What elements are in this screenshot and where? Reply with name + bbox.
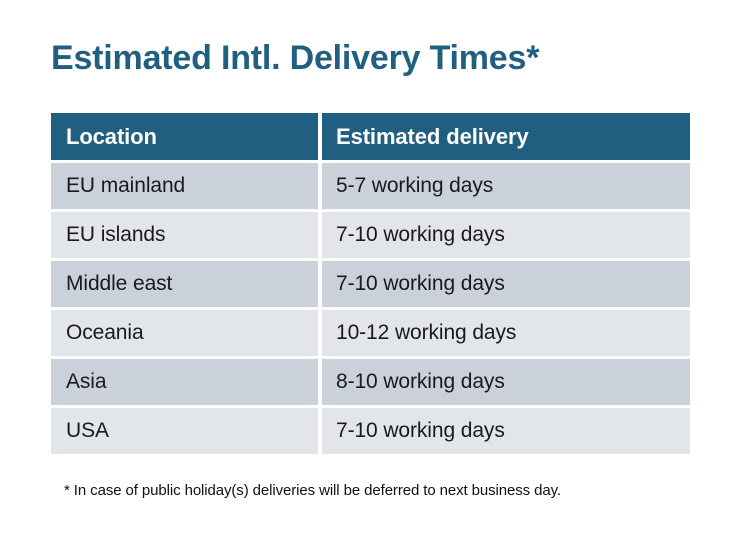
column-header-estimated-delivery: Estimated delivery	[322, 113, 690, 160]
cell-delivery: 10-12 working days	[322, 310, 690, 356]
table-row: USA 7-10 working days	[51, 408, 690, 454]
cell-delivery: 7-10 working days	[322, 212, 690, 258]
table-row: Asia 8-10 working days	[51, 359, 690, 405]
cell-delivery: 7-10 working days	[322, 261, 690, 307]
cell-location: Asia	[51, 359, 318, 405]
cell-location: Middle east	[51, 261, 318, 307]
delivery-times-graphic: Estimated Intl. Delivery Times* Location…	[0, 0, 745, 536]
cell-location: EU mainland	[51, 163, 318, 209]
table-row: Middle east 7-10 working days	[51, 261, 690, 307]
page-title: Estimated Intl. Delivery Times*	[51, 36, 711, 80]
table-row: EU islands 7-10 working days	[51, 212, 690, 258]
column-header-location: Location	[51, 113, 318, 160]
cell-location: EU islands	[51, 212, 318, 258]
cell-location: Oceania	[51, 310, 318, 356]
cell-location: USA	[51, 408, 318, 454]
table-header-row: Location Estimated delivery	[51, 113, 690, 160]
estimated-delivery-table: Location Estimated delivery EU mainland …	[51, 113, 690, 454]
table-row: EU mainland 5-7 working days	[51, 163, 690, 209]
footnote-text: * In case of public holiday(s) deliverie…	[64, 481, 561, 501]
cell-delivery: 5-7 working days	[322, 163, 690, 209]
cell-delivery: 8-10 working days	[322, 359, 690, 405]
table-row: Oceania 10-12 working days	[51, 310, 690, 356]
cell-delivery: 7-10 working days	[322, 408, 690, 454]
